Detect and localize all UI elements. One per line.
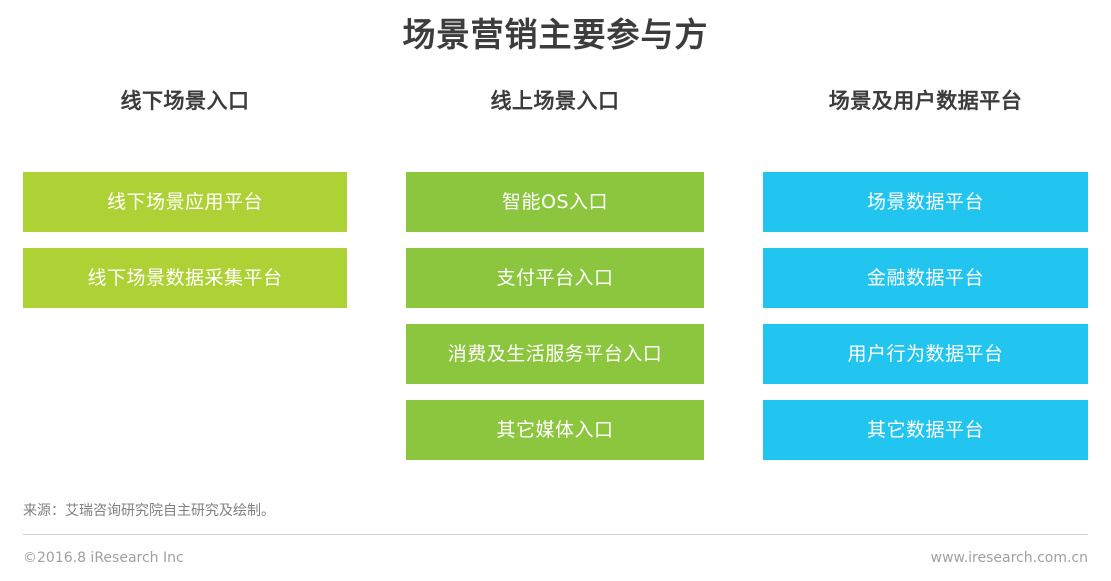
column-header-data-platform: 场景及用户数据平台 (763, 86, 1088, 116)
column-header-offline-entry: 线下场景入口 (23, 86, 347, 116)
box-other-data-platform[interactable]: 其它数据平台 (763, 400, 1088, 460)
box-user-behavior-data-platform[interactable]: 用户行为数据平台 (763, 324, 1088, 384)
column-online-entry: 线上场景入口 智能OS入口 支付平台入口 消费及生活服务平台入口 其它媒体入口 (406, 86, 704, 460)
accent-segment-right (633, 576, 1111, 581)
column-offline-entry: 线下场景入口 线下场景应用平台 线下场景数据采集平台 (23, 86, 347, 460)
footer-divider (23, 534, 1088, 535)
footer: ©2016.8 iResearch Inc www.iresearch.com.… (23, 547, 1088, 569)
footer-website[interactable]: www.iresearch.com.cn (931, 547, 1088, 569)
box-offline-data-collection-platform[interactable]: 线下场景数据采集平台 (23, 248, 347, 308)
column-data-platform: 场景及用户数据平台 场景数据平台 金融数据平台 用户行为数据平台 其它数据平台 (763, 86, 1088, 460)
columns-container: 线下场景入口 线下场景应用平台 线下场景数据采集平台 线上场景入口 智能OS入口… (23, 86, 1088, 460)
box-offline-app-platform[interactable]: 线下场景应用平台 (23, 172, 347, 232)
bottom-accent-bar (0, 576, 1111, 581)
column-header-online-entry: 线上场景入口 (406, 86, 704, 116)
source-note: 来源：艾瑞咨询研究院自主研究及绘制。 (23, 500, 275, 522)
slide-canvas: 场景营销主要参与方 线下场景入口 线下场景应用平台 线下场景数据采集平台 线上场… (0, 0, 1111, 581)
box-payment-platform-entry[interactable]: 支付平台入口 (406, 248, 704, 308)
box-other-media-entry[interactable]: 其它媒体入口 (406, 400, 704, 460)
box-finance-data-platform[interactable]: 金融数据平台 (763, 248, 1088, 308)
page-title: 场景营销主要参与方 (0, 12, 1111, 58)
box-scenario-data-platform[interactable]: 场景数据平台 (763, 172, 1088, 232)
box-smart-os-entry[interactable]: 智能OS入口 (406, 172, 704, 232)
accent-segment-left (0, 576, 633, 581)
box-consumption-life-service-entry[interactable]: 消费及生活服务平台入口 (406, 324, 704, 384)
footer-copyright: ©2016.8 iResearch Inc (23, 547, 184, 569)
